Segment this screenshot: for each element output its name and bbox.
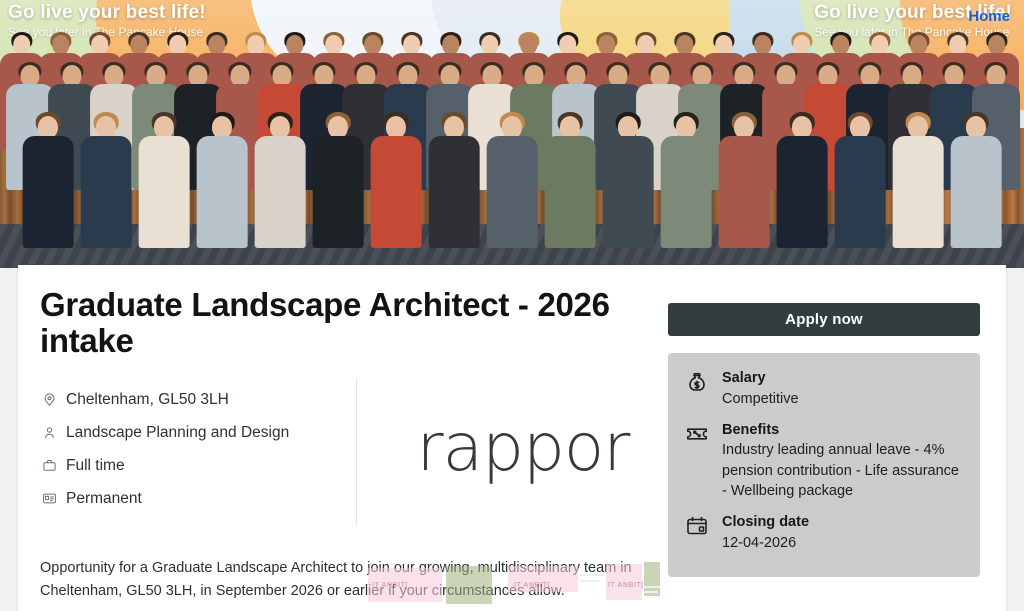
person (194, 112, 249, 248)
calendar-icon (684, 513, 710, 539)
person (484, 112, 539, 248)
person (890, 112, 945, 248)
person (658, 112, 713, 248)
group-photo-people (0, 0, 1024, 268)
person (310, 112, 365, 248)
money-bag-icon (684, 369, 710, 395)
job-meta-row: Cheltenham, GL50 3LH (42, 383, 362, 416)
vertical-divider (356, 378, 357, 525)
person (774, 112, 829, 248)
job-detail-value: Competitive (722, 389, 964, 409)
company-logo: rappor (388, 415, 658, 481)
job-meta-row: Permanent (42, 482, 362, 515)
job-detail-text: BenefitsIndustry leading annual leave - … (722, 421, 964, 501)
person (252, 112, 307, 248)
briefcase-icon (42, 458, 57, 473)
job-meta-label: Landscape Planning and Design (66, 424, 289, 442)
home-link[interactable]: Home (968, 8, 1010, 25)
location-pin-icon (42, 392, 57, 407)
person (368, 112, 423, 248)
job-meta-label: Cheltenham, GL50 3LH (66, 391, 229, 409)
id-card-icon (42, 491, 57, 506)
job-detail-value: 12-04-2026 (722, 533, 964, 553)
job-meta-list: Cheltenham, GL50 3LHLandscape Planning a… (42, 383, 362, 515)
job-detail-value: Industry leading annual leave - 4% pensi… (722, 440, 964, 501)
person (78, 112, 133, 248)
job-detail-text: SalaryCompetitive (722, 369, 964, 409)
apply-now-button[interactable]: Apply now (668, 303, 980, 336)
job-meta-label: Full time (66, 457, 125, 475)
voucher-percent-icon (684, 421, 710, 447)
hero-photo: Go live your best life! See you later in… (0, 0, 1024, 268)
job-description: Opportunity for a Graduate Landscape Arc… (40, 557, 660, 604)
person (948, 112, 1003, 248)
job-meta-row: Landscape Planning and Design (42, 416, 362, 449)
person (426, 112, 481, 248)
person (600, 112, 655, 248)
job-detail-label: Benefits (722, 422, 779, 438)
person (716, 112, 771, 248)
job-meta-row: Full time (42, 449, 362, 482)
job-detail-card: Graduate Landscape Architect - 2026 inta… (18, 265, 1006, 611)
person (542, 112, 597, 248)
person (832, 112, 887, 248)
job-detail-row: BenefitsIndustry leading annual leave - … (684, 421, 964, 501)
job-meta-label: Permanent (66, 490, 142, 508)
page-title: Graduate Landscape Architect - 2026 inta… (40, 287, 640, 359)
person (136, 112, 191, 248)
job-detail-row: Closing date12-04-2026 (684, 513, 964, 553)
job-detail-label: Salary (722, 370, 766, 386)
job-detail-text: Closing date12-04-2026 (722, 513, 964, 553)
job-detail-row: SalaryCompetitive (684, 369, 964, 409)
person (20, 112, 75, 248)
person-icon (42, 425, 57, 440)
job-details-card: SalaryCompetitiveBenefitsIndustry leadin… (668, 353, 980, 577)
job-listing-page: Go live your best life! See you later in… (0, 0, 1024, 611)
job-detail-label: Closing date (722, 514, 809, 530)
